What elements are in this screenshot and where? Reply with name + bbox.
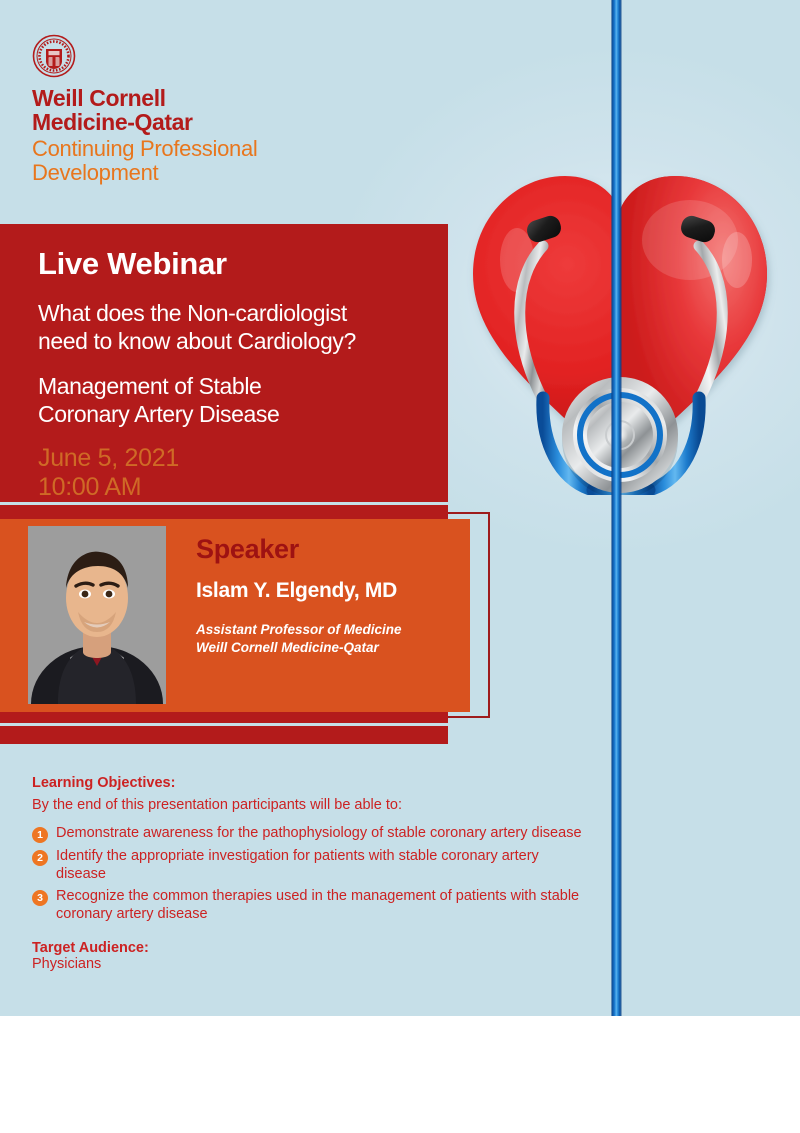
objective-text: Recognize the common therapies used in t… xyxy=(56,888,592,923)
speaker-affiliation: Assistant Professor of Medicine Weill Co… xyxy=(196,621,456,657)
learning-objectives-heading: Learning Objectives: xyxy=(32,775,592,791)
objective-number-icon: 2 xyxy=(32,850,48,866)
brand-sub-1: Continuing Professional xyxy=(32,137,257,161)
brand-name: Weill Cornell Medicine-Qatar xyxy=(32,86,257,135)
learning-objectives-section: Learning Objectives: By the end of this … xyxy=(32,775,592,972)
live-webinar-kicker: Live Webinar xyxy=(38,246,448,282)
footer: State of Qatar MINISTRY OF PUBLIC HEALTH… xyxy=(0,1016,800,1133)
topic-line-2: Coronary Artery Disease xyxy=(38,401,448,429)
brand-line-1: Weill Cornell xyxy=(32,86,257,110)
speaker-ribbon-middle xyxy=(0,712,448,723)
list-item: 3 Recognize the common therapies used in… xyxy=(32,888,592,923)
brand-header: Weill Cornell Medicine-Qatar Continuing … xyxy=(32,34,257,185)
brand-sub-2: Development xyxy=(32,161,257,185)
stethoscope-tube-icon xyxy=(611,0,622,1016)
webinar-question: What does the Non-cardiologist need to k… xyxy=(38,300,448,355)
speaker-name: Islam Y. Elgendy, MD xyxy=(196,579,456,603)
avatar xyxy=(28,526,166,704)
objective-text: Demonstrate awareness for the pathophysi… xyxy=(56,825,582,843)
list-item: 1 Demonstrate awareness for the pathophy… xyxy=(32,825,592,843)
webinar-poster: Weill Cornell Medicine-Qatar Continuing … xyxy=(0,0,800,1133)
speaker-ribbon-top xyxy=(0,505,448,519)
target-audience-heading: Target Audience: xyxy=(32,940,592,956)
event-time: 10:00 AM xyxy=(38,473,448,502)
speaker-details: Speaker Islam Y. Elgendy, MD Assistant P… xyxy=(196,534,456,657)
brand-subtitle: Continuing Professional Development xyxy=(32,137,257,185)
learning-objectives-intro: By the end of this presentation particip… xyxy=(32,797,592,813)
title-block: Live Webinar What does the Non-cardiolog… xyxy=(0,224,448,502)
topic-line-1: Management of Stable xyxy=(38,373,448,401)
objective-number-icon: 1 xyxy=(32,827,48,843)
list-item: 2 Identify the appropriate investigation… xyxy=(32,848,592,883)
cornell-seal-icon xyxy=(32,34,76,78)
target-audience-value: Physicians xyxy=(32,956,592,972)
speaker-heading: Speaker xyxy=(196,534,456,565)
event-datetime: June 5, 2021 10:00 AM xyxy=(38,444,448,502)
event-date: June 5, 2021 xyxy=(38,444,448,473)
speaker-institution: Weill Cornell Medicine-Qatar xyxy=(196,639,456,657)
speaker-ribbon-bottom xyxy=(0,726,448,744)
target-audience-section: Target Audience: Physicians xyxy=(32,940,592,972)
question-line-1: What does the Non-cardiologist xyxy=(38,300,448,328)
objective-number-icon: 3 xyxy=(32,890,48,906)
webinar-topic: Management of Stable Coronary Artery Dis… xyxy=(38,373,448,428)
speaker-title: Assistant Professor of Medicine xyxy=(196,621,456,639)
question-line-2: need to know about Cardiology? xyxy=(38,328,448,356)
objective-text: Identify the appropriate investigation f… xyxy=(56,848,592,883)
brand-line-2: Medicine-Qatar xyxy=(32,110,257,134)
